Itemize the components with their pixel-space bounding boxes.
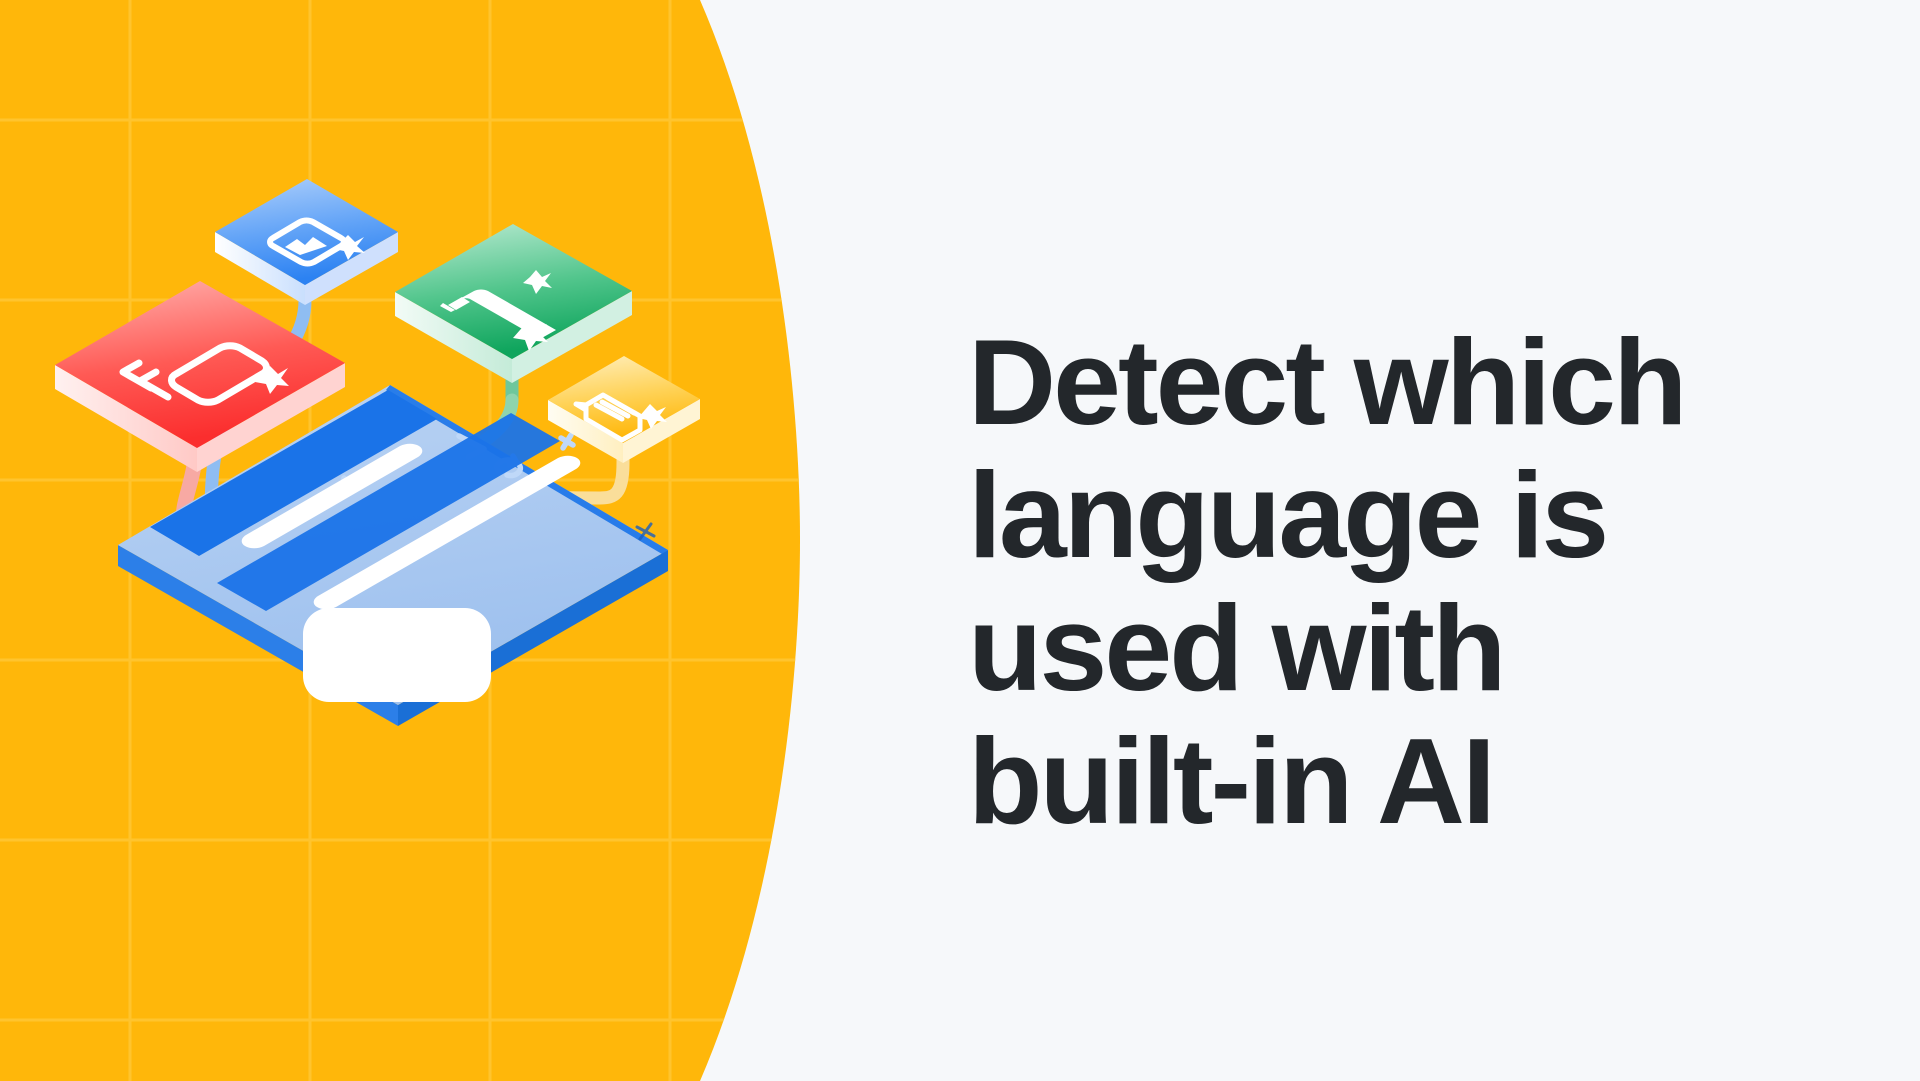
panel-fill xyxy=(0,0,800,1081)
hero-banner: Detect which language is used with built… xyxy=(0,0,1920,1081)
headline-block: Detect which language is used with built… xyxy=(968,316,1828,848)
page-title: Detect which language is used with built… xyxy=(968,316,1828,848)
orange-background-panel xyxy=(0,0,800,1081)
